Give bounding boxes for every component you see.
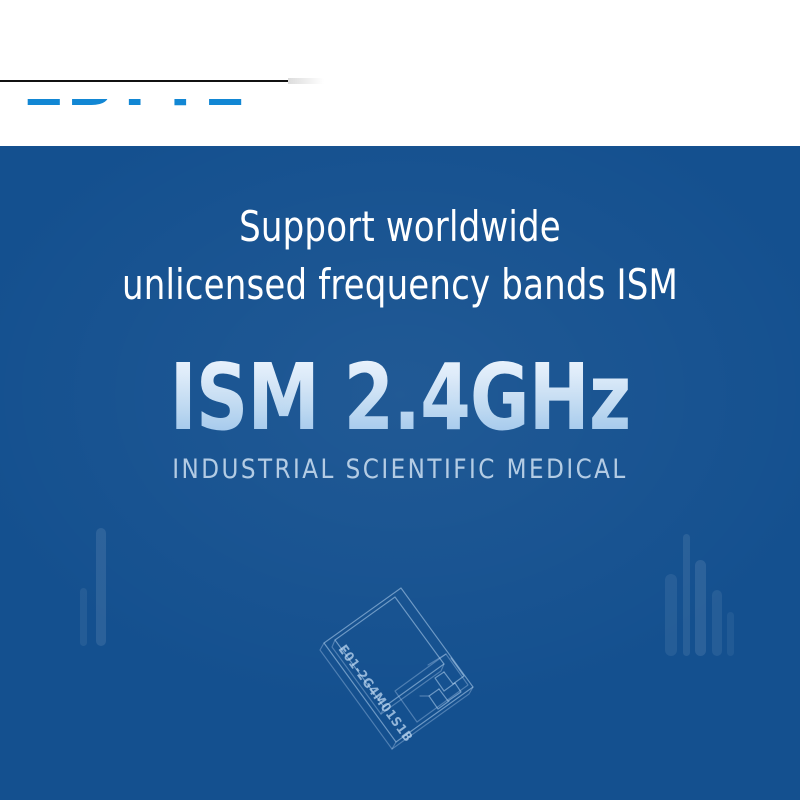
- hero-subtitle: INDUSTRIAL SCIENTIFIC MEDICAL: [20, 454, 780, 486]
- header-divider-rule: [0, 80, 288, 82]
- header-area: EBYTE: [0, 0, 800, 146]
- brand-logo[interactable]: EBYTE: [22, 99, 282, 137]
- hero-headline: Support worldwide unlicensed frequency b…: [40, 198, 760, 314]
- promo-banner-page: EBYTE Support worldwide unlicensed frequ…: [0, 0, 800, 800]
- decor-bar: [80, 588, 87, 646]
- decor-bar: [96, 528, 106, 646]
- decor-bar: [665, 574, 677, 656]
- hero-big-title: ISM 2.4GHz: [48, 346, 752, 450]
- header-rule-fade: [288, 78, 324, 84]
- decor-bar: [695, 560, 706, 656]
- hero-headline-line-1: Support worldwide: [239, 202, 561, 251]
- decor-bars-left: [70, 526, 140, 646]
- module-wireframe: E01-2G4M01S1B: [320, 588, 473, 749]
- hero-headline-line-2: unlicensed frequency bands ISM: [40, 256, 760, 314]
- decor-bar: [712, 590, 722, 656]
- hero-panel: Support worldwide unlicensed frequency b…: [0, 146, 800, 800]
- decor-bar: [727, 612, 734, 656]
- decor-bars-right: [665, 526, 755, 656]
- module-illustration: E01-2G4M01S1B: [268, 546, 568, 786]
- decor-bar: [683, 534, 690, 656]
- brand-logo-wordmark: EBYTE: [22, 99, 248, 115]
